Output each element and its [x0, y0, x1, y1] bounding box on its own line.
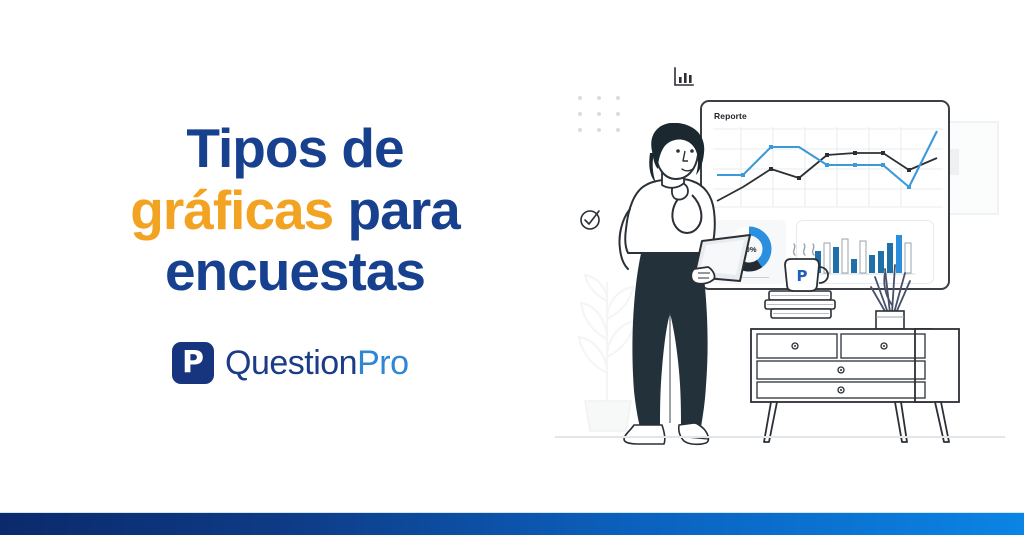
headline-line-2: gráficas para — [60, 180, 530, 242]
footer-gradient-bar — [0, 513, 1024, 535]
headline-line-2-rest: para — [333, 179, 459, 241]
questionpro-logo-mark: P — [172, 342, 214, 384]
questionpro-wordmark: QuestionPro — [225, 346, 409, 380]
questionpro-logo: P QuestionPro — [172, 342, 409, 384]
logo-word-question: Question — [225, 344, 357, 382]
bar-chart-icon — [673, 66, 695, 88]
logo-p-glyph: P — [172, 342, 214, 384]
woman-with-tablet — [590, 123, 755, 453]
headline-line-3: encuestas — [60, 241, 530, 303]
floor-line — [555, 436, 1005, 438]
dashboard-title: Reporte — [714, 111, 938, 121]
banner-canvas: Tipos de gráficas para encuestas P Quest… — [0, 0, 1024, 535]
logo-word-pro: Pro — [357, 344, 408, 382]
svg-text:P: P — [797, 267, 808, 285]
page-title: Tipos de gráficas para encuestas — [60, 118, 530, 303]
sideboard-dresser: P — [745, 243, 970, 453]
headline-accent-word: gráficas — [130, 179, 333, 241]
illustration: Reporte — [545, 28, 1015, 458]
headline-line-1: Tipos de — [60, 118, 530, 180]
